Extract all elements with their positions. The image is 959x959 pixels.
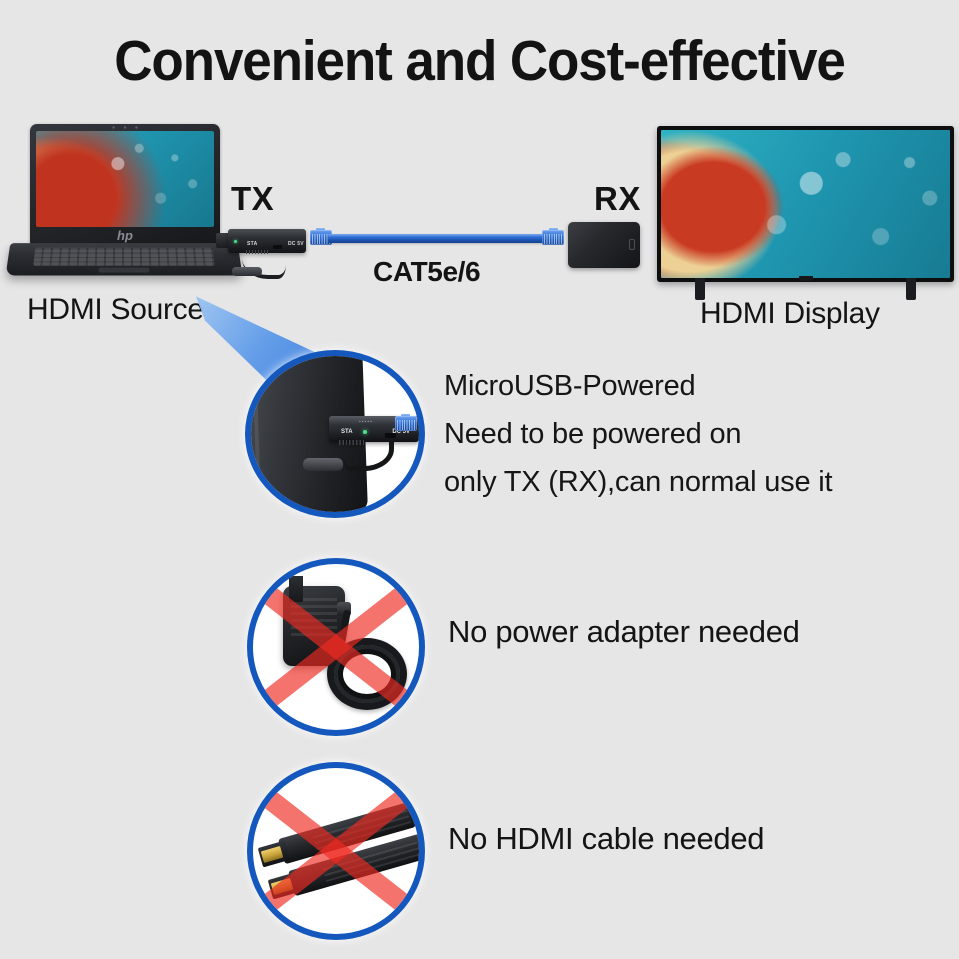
feature-line: Need to be powered on <box>444 410 944 458</box>
feature-line: MicroUSB-Powered <box>444 362 944 410</box>
adapter-prongs <box>289 576 303 602</box>
laptop-keyboard <box>33 248 215 266</box>
tv-foot-right <box>906 278 916 300</box>
adapter-ribs <box>291 596 337 636</box>
rx-label: RX <box>594 180 641 218</box>
infographic-canvas: Convenient and Cost-effective hp HDMI So… <box>0 0 959 959</box>
laptop-lid: hp <box>30 124 220 244</box>
cat5e-cable <box>328 234 550 243</box>
laptop-trackpad <box>99 268 150 273</box>
hdmi-display-label: HDMI Display <box>700 297 880 331</box>
tv-logo-nub <box>799 276 813 281</box>
power-adapter-icon <box>247 558 425 736</box>
hdmi-source-label: HDMI Source <box>27 293 204 327</box>
rj45-connector <box>395 414 419 434</box>
feature-no-power-adapter-label: No power adapter needed <box>448 614 800 650</box>
hdmi-cable-icon <box>247 762 425 940</box>
tv-frame <box>657 126 954 282</box>
rx-body <box>568 222 640 268</box>
tx-status-label: STA <box>247 241 258 247</box>
cat5e-cable-label: CAT5e/6 <box>373 256 480 288</box>
rj45-pins <box>544 234 562 244</box>
adapter-coiled-cable <box>327 638 407 710</box>
tx-status-led-icon <box>363 430 367 434</box>
tx-usb-plug <box>303 458 343 471</box>
laptop-webcam-icon <box>106 126 144 129</box>
feature-no-hdmi-cable-label: No HDMI cable needed <box>448 821 764 857</box>
laptop-brand-logo: hp <box>117 229 133 242</box>
tx-label: TX <box>231 180 274 218</box>
tx-usb-cable <box>343 440 394 471</box>
tx-extender-unit: STA DC 5V <box>216 225 312 265</box>
rj45-shell <box>542 230 564 245</box>
tx-usb-plug <box>232 267 262 276</box>
feature-line: only TX (RX),can normal use it <box>444 458 944 506</box>
rj45-connector-rx <box>540 228 564 248</box>
rj45-shell <box>395 416 417 431</box>
page-title: Convenient and Cost-effective <box>34 28 926 94</box>
tx-power-label: DC 5V <box>288 241 304 247</box>
tx-extender-closeup-icon: ▪▪▪▪▪ STA DC 5V <box>245 350 425 518</box>
tx-status-label: STA <box>341 429 353 435</box>
tx-brand-text: ▪▪▪▪▪ <box>359 419 373 425</box>
rj45-pins <box>397 420 415 430</box>
tv-screen <box>661 130 950 278</box>
tv-image <box>657 126 954 301</box>
laptop-base <box>6 243 243 275</box>
laptop-image: hp <box>8 124 240 284</box>
rx-extender-unit <box>568 222 640 268</box>
laptop-screen <box>36 131 214 227</box>
feature-microusb-text: MicroUSB-Powered Need to be powered on o… <box>444 362 944 506</box>
